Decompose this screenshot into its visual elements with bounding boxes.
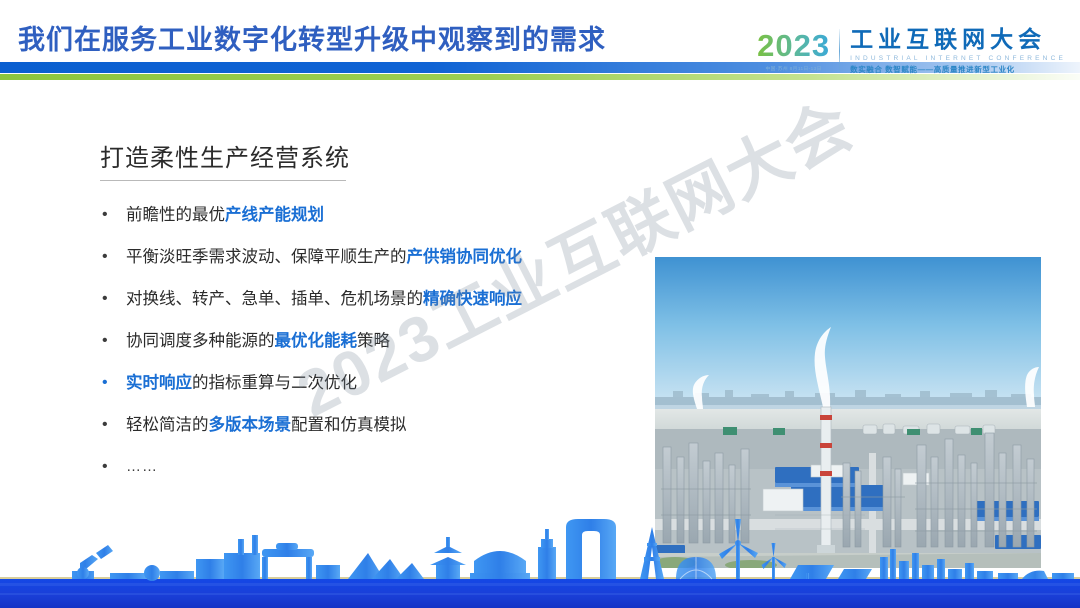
slide-body: 打造柔性生产经营系统 •前瞻性的最优产线产能规划•平衡淡旺季需求波动、保障平顺生… [0, 100, 1080, 520]
bullet-marker-icon: • [100, 246, 126, 268]
page-title: 我们在服务工业数字化转型升级中观察到的需求 [18, 18, 606, 57]
bullet-list: •前瞻性的最优产线产能规划•平衡淡旺季需求波动、保障平顺生产的产供销协同优化•对… [100, 204, 620, 498]
bullet-text: 前瞻性的最优产线产能规划 [126, 204, 324, 226]
bullet-marker-icon: • [100, 414, 126, 436]
bullet-highlight: 产线产能规划 [225, 206, 324, 224]
bullet-highlight: 多版本场景 [209, 416, 292, 434]
bullet-text: …… [126, 456, 158, 478]
bullet-plain: 配置和仿真模拟 [291, 416, 407, 434]
bullet-text: 实时响应的指标重算与二次优化 [126, 372, 357, 394]
bullet-plain: 的指标重算与二次优化 [192, 374, 357, 392]
logo-year: 2023 [757, 30, 830, 61]
bullet-item: •对换线、转产、急单、插单、危机场景的精确快速响应 [100, 288, 620, 330]
bullet-marker-icon: • [100, 372, 126, 394]
bullet-item: •平衡淡旺季需求波动、保障平顺生产的产供销协同优化 [100, 246, 620, 288]
bullet-text: 协同调度多种能源的最优化能耗策略 [126, 330, 390, 352]
logo-year-block: 2023 中国·苏州 8月11日-13日 [757, 30, 839, 72]
bullet-marker-icon: • [100, 330, 126, 352]
footer-skyline [0, 513, 1080, 608]
presentation-slide: 我们在服务工业数字化转型升级中观察到的需求 2023 中国·苏州 8月11日-1… [0, 0, 1080, 608]
logo-slogan: 数实融合 数智赋能——高质量推进新型工业化 [850, 64, 1066, 75]
section-heading: 打造柔性生产经营系统 [100, 138, 350, 173]
slide-header: 我们在服务工业数字化转型升级中观察到的需求 2023 中国·苏州 8月11日-1… [0, 0, 1080, 100]
bullet-highlight: 产供销协同优化 [407, 248, 523, 266]
logo-name-chinese: 工业互联网大会 [850, 27, 1066, 53]
bullet-marker-icon: • [100, 204, 126, 226]
bullet-text: 对换线、转产、急单、插单、危机场景的精确快速响应 [126, 288, 522, 310]
bullet-item: •实时响应的指标重算与二次优化 [100, 372, 620, 414]
bullet-item: •前瞻性的最优产线产能规划 [100, 204, 620, 246]
bullet-plain: 平衡淡旺季需求波动、保障平顺生产的 [126, 248, 407, 266]
bullet-plain: 策略 [357, 332, 390, 350]
bullet-text: 轻松简洁的多版本场景配置和仿真模拟 [126, 414, 407, 436]
bullet-marker-icon: • [100, 456, 126, 478]
section-divider [100, 180, 346, 181]
bullet-plain: 对换线、转产、急单、插单、危机场景的 [126, 290, 423, 308]
bullet-highlight: 精确快速响应 [423, 290, 522, 308]
bullet-text: 平衡淡旺季需求波动、保障平顺生产的产供销协同优化 [126, 246, 522, 268]
logo-year-subtitle: 中国·苏州 8月11日-13日 [765, 65, 821, 72]
bullet-item: •轻松简洁的多版本场景配置和仿真模拟 [100, 414, 620, 456]
bullet-item: •…… [100, 456, 620, 498]
bullet-highlight: 实时响应 [126, 374, 192, 392]
bullet-plain: 前瞻性的最优 [126, 206, 225, 224]
bullet-marker-icon: • [100, 288, 126, 310]
bullet-plain: …… [126, 458, 158, 475]
bullet-plain: 协同调度多种能源的 [126, 332, 275, 350]
bullet-item: •协同调度多种能源的最优化能耗策略 [100, 330, 620, 372]
logo-name-english: INDUSTRIAL INTERNET CONFERENCE [850, 55, 1066, 62]
bullet-highlight: 最优化能耗 [275, 332, 358, 350]
logo-name-block: 工业互联网大会 INDUSTRIAL INTERNET CONFERENCE 数… [840, 27, 1066, 75]
conference-logo: 2023 中国·苏州 8月11日-13日 工业互联网大会 INDUSTRIAL … [757, 22, 1066, 80]
bullet-plain: 轻松简洁的 [126, 416, 209, 434]
